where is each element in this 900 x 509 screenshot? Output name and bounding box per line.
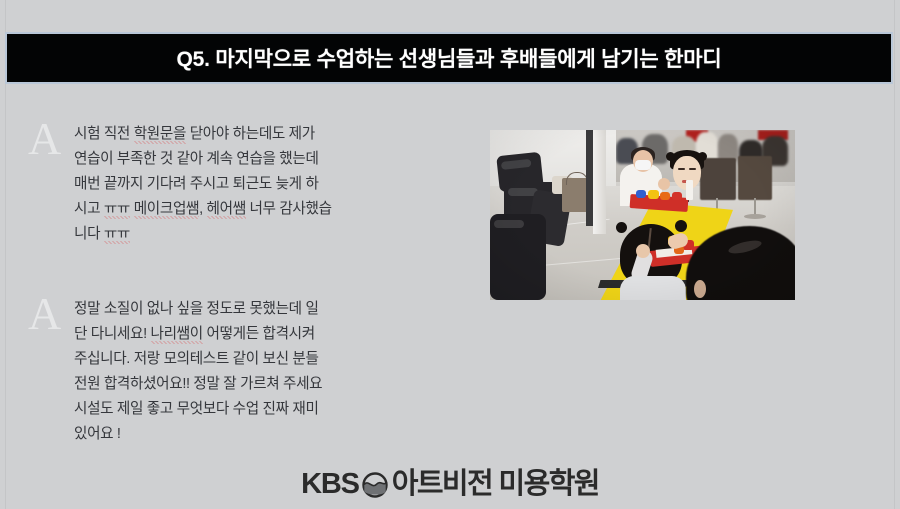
answer-block-2: A 정말 소질이 없나 싶을 정도로 못했는데 일 단 다니세요! 나리쌤이 어… [28, 293, 428, 447]
spellcheck-span: 학원문을 [134, 126, 186, 144]
answer-block-1: A 시험 직전 학원문을 닫아야 하는데도 제가 연습이 부족한 것 같아 계속… [28, 118, 428, 247]
classroom-photo [490, 130, 795, 300]
answer-mark-1: A [28, 118, 74, 160]
slide-title-banner: Q5. 마지막으로 수업하는 선생님들과 후배들에게 남기는 한마디 [5, 32, 893, 84]
footer-logo: KBS 아트비전 미용학원 [0, 470, 900, 499]
globe-wave-icon [362, 472, 388, 498]
answer-mark-2: A [28, 293, 74, 335]
page-edge-right [894, 0, 895, 509]
answer-text-2: 정말 소질이 없나 싶을 정도로 못했는데 일 단 다니세요! 나리쌤이 어떻게… [74, 293, 322, 447]
spellcheck-span: 메이크업쌤 [134, 201, 199, 219]
footer-brand-name: 아트비전 미용학원 [392, 470, 599, 499]
spellcheck-span: ㅠㅠ [104, 201, 130, 219]
classroom-photo-image [490, 130, 795, 300]
answer-text-1: 시험 직전 학원문을 닫아야 하는데도 제가 연습이 부족한 것 같아 계속 연… [74, 118, 332, 247]
slide: Q5. 마지막으로 수업하는 선생님들과 후배들에게 남기는 한마디 A 시험 … [0, 0, 900, 509]
spellcheck-span: ㅠㅠ [104, 226, 130, 244]
spellcheck-span: 헤어쌤 [207, 201, 246, 219]
footer-brand-prefix: KBS [301, 470, 359, 499]
spellcheck-span: 나리쌤이 [151, 326, 203, 344]
page-title: Q5. 마지막으로 수업하는 선생님들과 후배들에게 남기는 한마디 [176, 43, 721, 73]
